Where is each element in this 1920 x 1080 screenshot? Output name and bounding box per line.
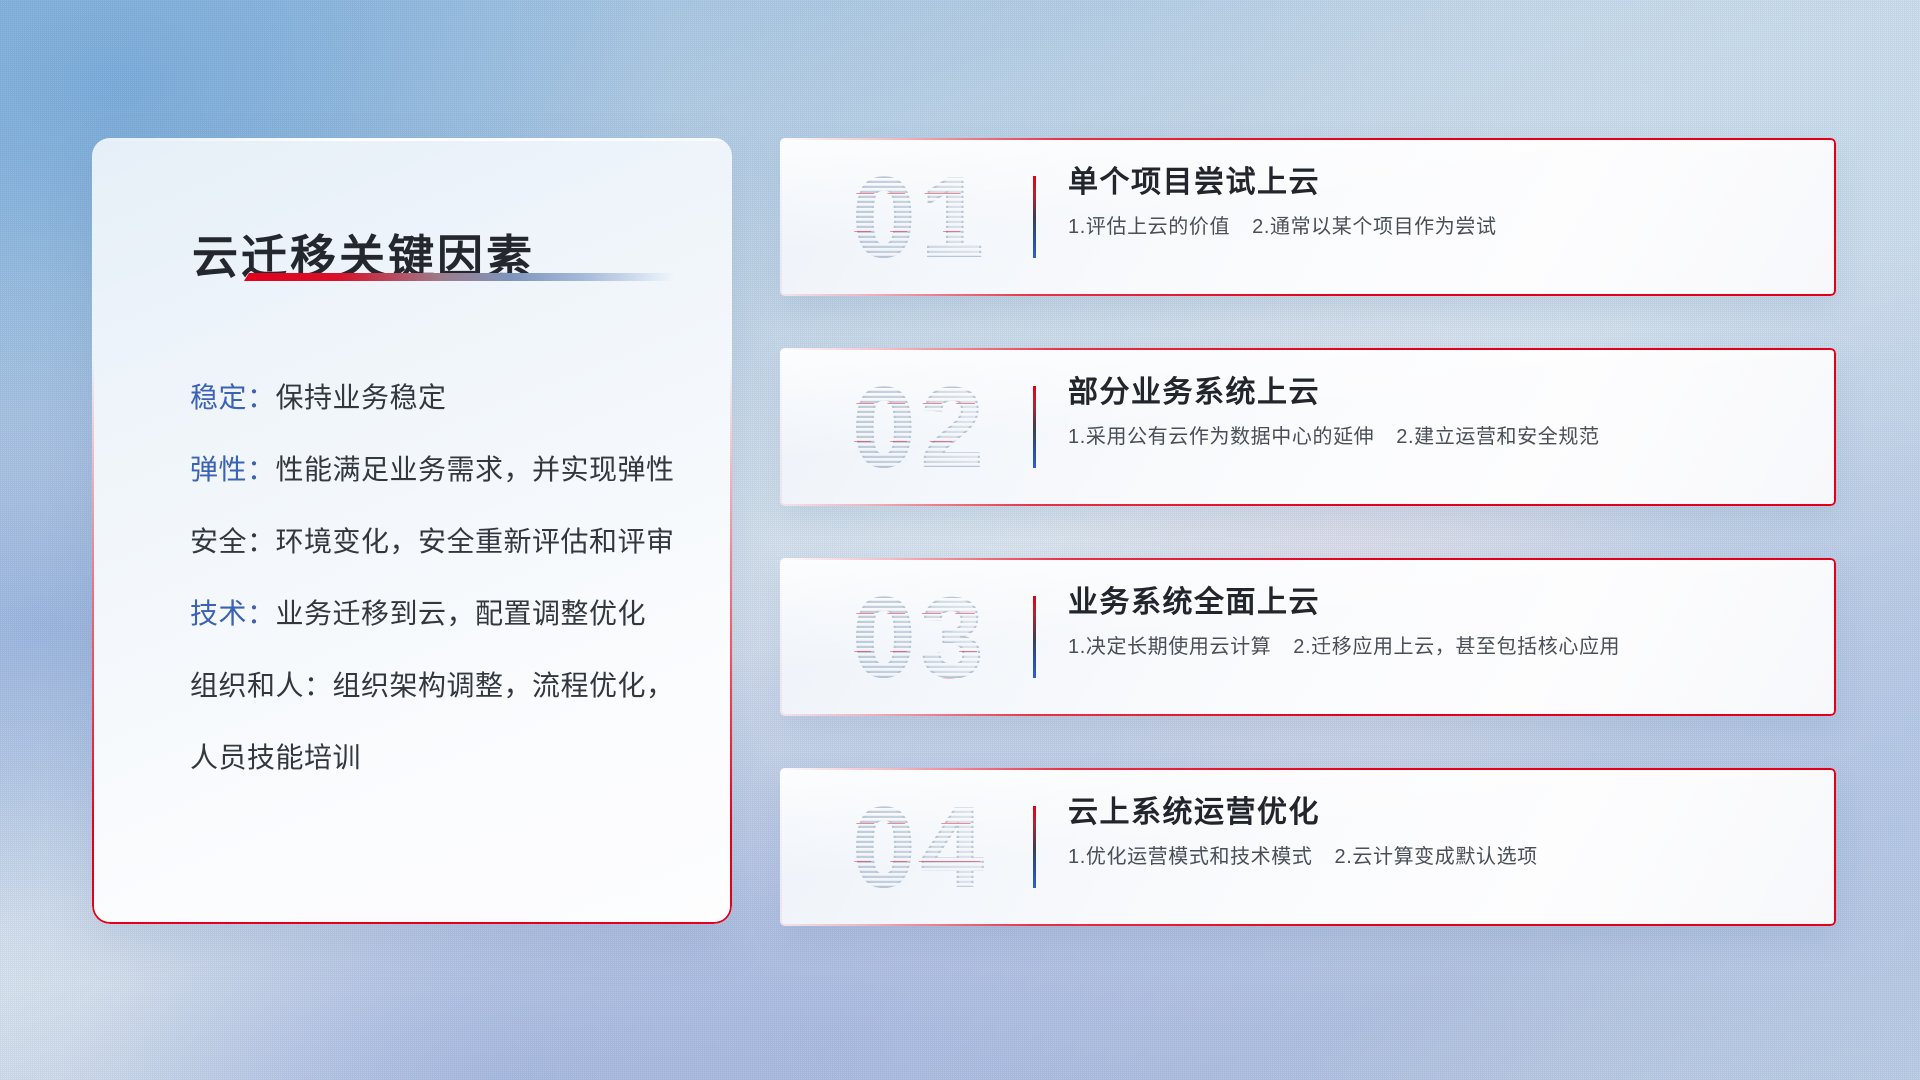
step-card-04[interactable]: 04 04 云上系统运营优化 1.优化运营模式和技术模式2.云计算变成默认选项 — [780, 768, 1836, 926]
slide-stage: 云迁移关键因素 稳定：保持业务稳定 弹性：性能满足业务需求，并实现弹性 安全：环… — [0, 0, 1920, 1080]
step-divider-bar — [1033, 806, 1036, 888]
step-description: 1.采用公有云作为数据中心的延伸2.建立运营和安全规范 — [1068, 425, 1812, 449]
factor-value: 环境变化，安全重新评估和评审 — [276, 526, 675, 557]
step-body: 云上系统运营优化 1.优化运营模式和技术模式2.云计算变成默认选项 — [1068, 796, 1812, 869]
factor-value: 组织架构调整，流程优化， — [333, 670, 675, 701]
title-underline-rule — [244, 273, 674, 281]
step-number-ghost: 04 — [806, 776, 1036, 918]
step-number-glitch-overlay: 02 — [803, 356, 1033, 498]
step-divider-bar — [1033, 176, 1036, 258]
list-item: 安全：环境变化，安全重新评估和评审 — [190, 528, 694, 556]
factor-label: 弹性： — [190, 454, 276, 485]
list-item: 稳定：保持业务稳定 — [190, 384, 694, 412]
step-body: 部分业务系统上云 1.采用公有云作为数据中心的延伸2.建立运营和安全规范 — [1068, 376, 1812, 449]
step-title: 业务系统全面上云 — [1068, 586, 1812, 621]
step-number-ghost: 01 — [806, 146, 1036, 288]
list-item: 组织和人：组织架构调整，流程优化， — [190, 672, 694, 700]
step-divider-bar — [1033, 386, 1036, 468]
step-title: 单个项目尝试上云 — [1068, 166, 1812, 201]
step-desc-item-1: 1.决定长期使用云计算 — [1068, 636, 1271, 658]
step-number-glitch-overlay: 04 — [803, 776, 1033, 918]
step-title: 云上系统运营优化 — [1068, 796, 1812, 831]
step-number-ghost: 02 — [806, 356, 1036, 498]
list-item: 弹性：性能满足业务需求，并实现弹性 — [190, 456, 694, 484]
key-factors-list: 稳定：保持业务稳定 弹性：性能满足业务需求，并实现弹性 安全：环境变化，安全重新… — [190, 384, 694, 772]
factor-value: 性能满足业务需求，并实现弹性 — [276, 454, 675, 485]
list-item: 技术：业务迁移到云，配置调整优化 — [190, 600, 694, 628]
step-desc-item-2: 2.迁移应用上云，甚至包括核心应用 — [1293, 636, 1620, 658]
key-factors-card: 云迁移关键因素 稳定：保持业务稳定 弹性：性能满足业务需求，并实现弹性 安全：环… — [92, 138, 732, 924]
factor-value: 人员技能培训 — [190, 742, 361, 773]
step-desc-item-2: 2.通常以某个项目作为尝试 — [1252, 216, 1496, 238]
factor-value: 保持业务稳定 — [276, 382, 447, 413]
step-body: 业务系统全面上云 1.决定长期使用云计算2.迁移应用上云，甚至包括核心应用 — [1068, 586, 1812, 659]
step-description: 1.优化运营模式和技术模式2.云计算变成默认选项 — [1068, 845, 1812, 869]
factor-value: 业务迁移到云，配置调整优化 — [276, 598, 647, 629]
step-body: 单个项目尝试上云 1.评估上云的价值2.通常以某个项目作为尝试 — [1068, 166, 1812, 239]
step-number-text: 04 — [853, 783, 990, 912]
list-item: 人员技能培训 — [190, 744, 694, 772]
step-desc-item-2: 2.云计算变成默认选项 — [1334, 846, 1537, 868]
step-description: 1.决定长期使用云计算2.迁移应用上云，甚至包括核心应用 — [1068, 635, 1812, 659]
step-number-ghost: 03 — [806, 566, 1036, 708]
step-divider-bar — [1033, 596, 1036, 678]
step-card-02[interactable]: 02 02 部分业务系统上云 1.采用公有云作为数据中心的延伸2.建立运营和安全… — [780, 348, 1836, 506]
step-card-03[interactable]: 03 03 业务系统全面上云 1.决定长期使用云计算2.迁移应用上云，甚至包括核… — [780, 558, 1836, 716]
step-number-text: 01 — [853, 153, 990, 282]
step-description: 1.评估上云的价值2.通常以某个项目作为尝试 — [1068, 215, 1812, 239]
factor-label: 稳定： — [190, 382, 276, 413]
step-card-01[interactable]: 01 01 单个项目尝试上云 1.评估上云的价值2.通常以某个项目作为尝试 — [780, 138, 1836, 296]
step-desc-item-1: 1.评估上云的价值 — [1068, 216, 1230, 238]
factor-label: 组织和人： — [190, 670, 333, 701]
step-title: 部分业务系统上云 — [1068, 376, 1812, 411]
factor-label: 安全： — [190, 526, 276, 557]
step-desc-item-2: 2.建立运营和安全规范 — [1396, 426, 1599, 448]
step-number-glitch-overlay: 03 — [803, 566, 1033, 708]
card-top-highlight — [92, 138, 732, 141]
step-desc-item-1: 1.优化运营模式和技术模式 — [1068, 846, 1312, 868]
step-number-glitch-overlay: 01 — [803, 146, 1033, 288]
step-desc-item-1: 1.采用公有云作为数据中心的延伸 — [1068, 426, 1374, 448]
step-number-text: 03 — [853, 573, 990, 702]
step-number-text: 02 — [853, 363, 990, 492]
factor-label: 技术： — [190, 598, 276, 629]
